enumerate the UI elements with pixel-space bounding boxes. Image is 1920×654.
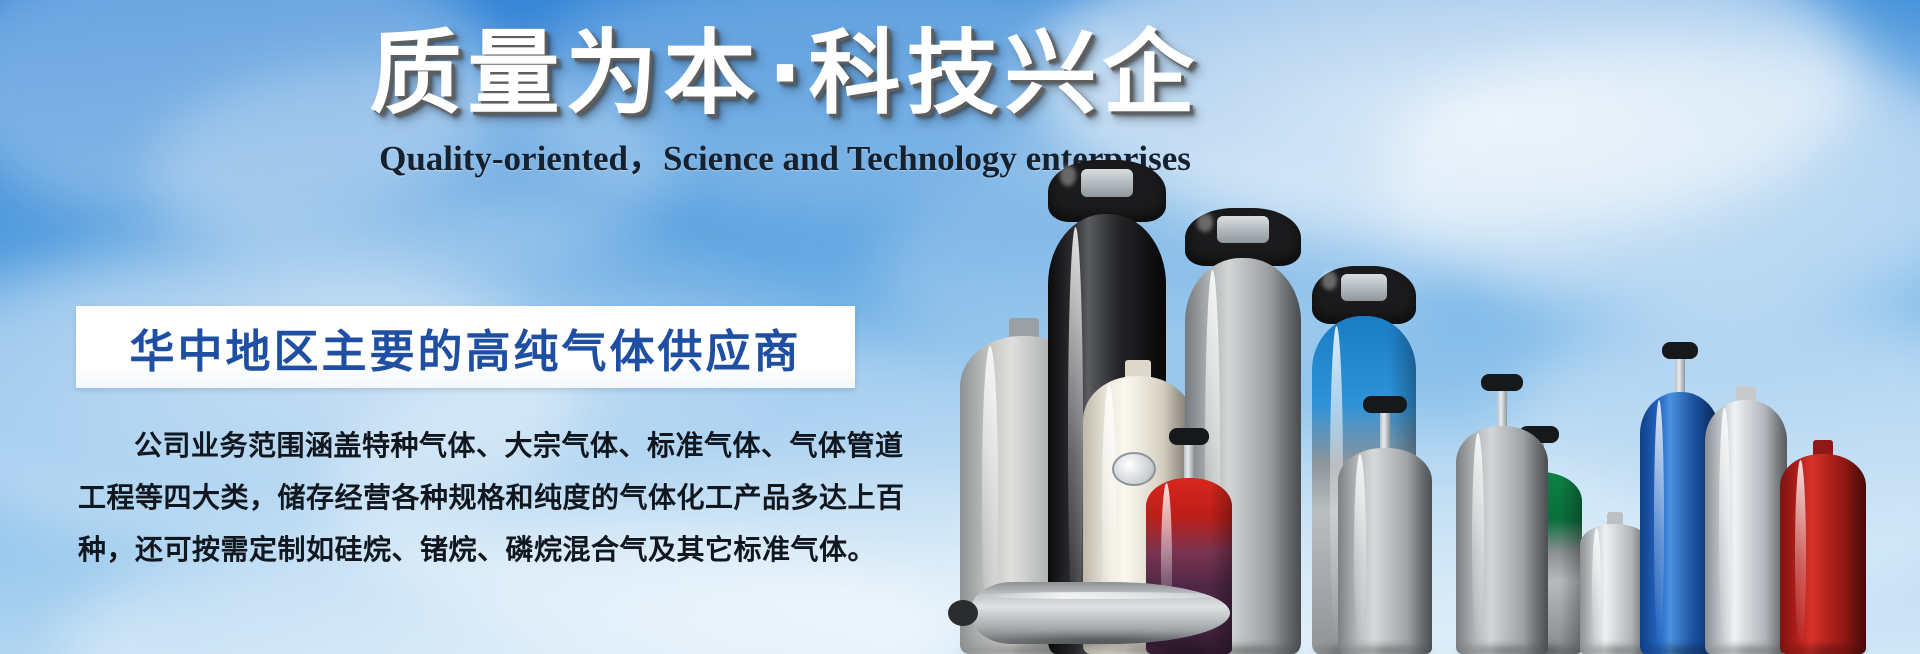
pressure-gauge-icon [1112,452,1156,486]
cylinder-aluminium-tall [1705,388,1787,654]
tagline-box: 华中地区主要的高纯气体供应商 [76,306,855,388]
cylinder-grey-mid [1456,386,1548,654]
cylinder-horizontal-grey [970,574,1230,644]
gas-cylinder-group [940,0,1920,654]
cylinder-red-dark [1780,442,1866,654]
banner-body-copy: 公司业务范围涵盖特种气体、大宗气体、标准气体、气体管道 工程等四大类，储存经营各… [78,420,868,576]
headline-left-phrase: 质量为本 [370,20,762,127]
body-copy-line: 工程等四大类，储存经营各种规格和纯度的气体化工产品多达上百 [78,472,868,524]
body-copy-line: 公司业务范围涵盖特种气体、大宗气体、标准气体、气体管道 [78,420,868,472]
cylinder-grey-valve [1338,408,1432,654]
body-copy-line: 种，还可按需定制如硅烷、锗烷、磷烷混合气及其它标准气体。 [78,524,868,576]
cylinder-valve-cap [948,600,978,626]
tagline-text: 华中地区主要的高纯气体供应商 [129,315,801,380]
promotional-banner: 质量为本·科技兴企 Quality-oriented，Science and T… [0,0,1920,654]
headline-separator-dot: · [762,20,809,127]
